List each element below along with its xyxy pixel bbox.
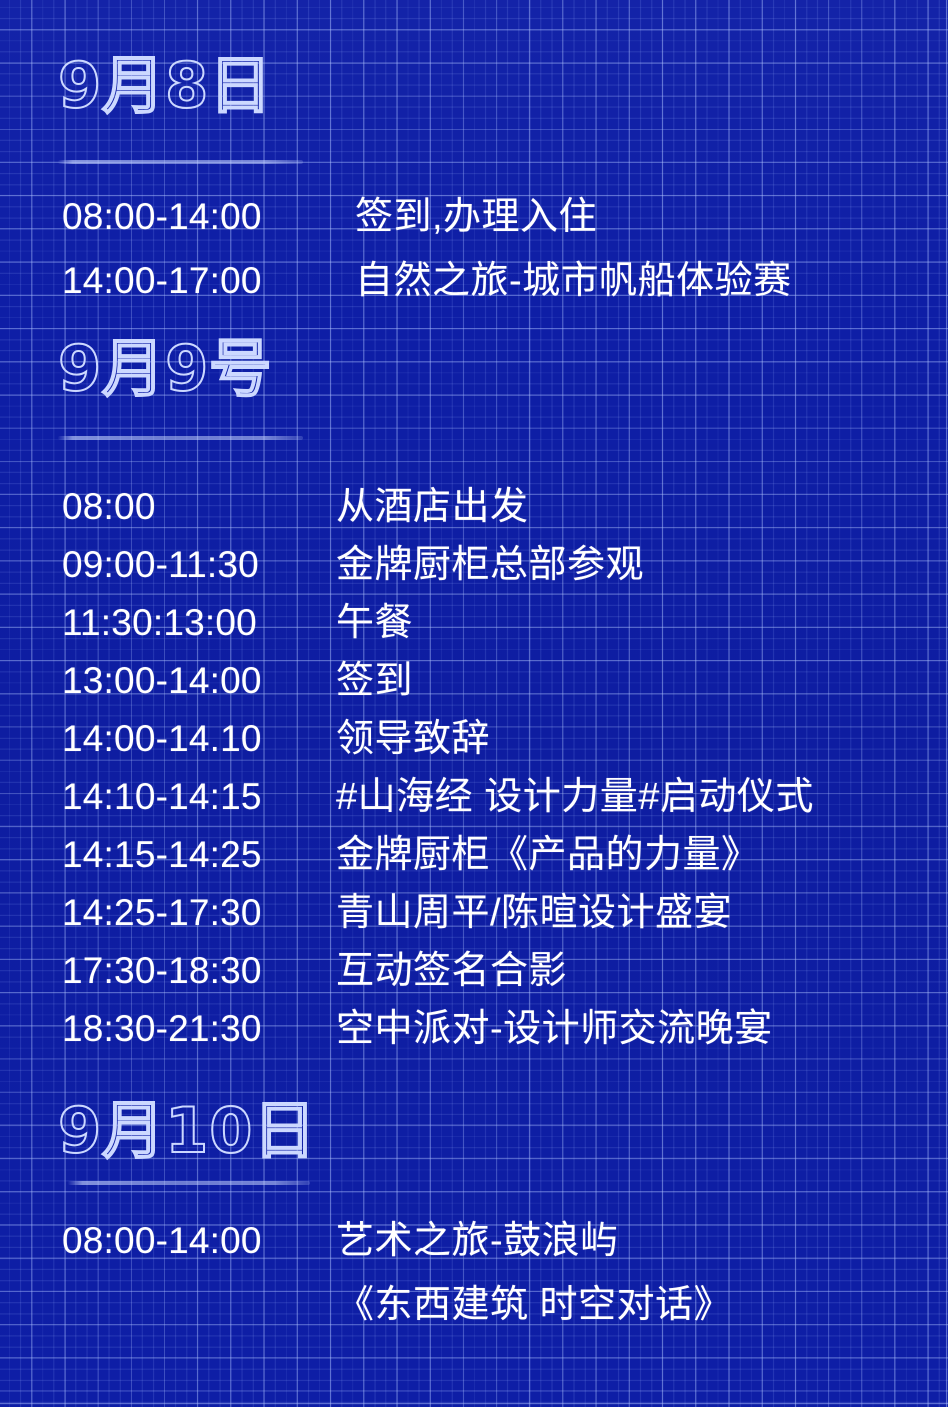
schedule-row: 14:10-14:15 #山海经 设计力量#启动仪式: [62, 778, 814, 816]
day-title-3: 9月10日: [58, 1100, 316, 1162]
row-time: 13:00-14:00: [62, 662, 336, 700]
row-event: 自然之旅-城市帆船体验赛: [355, 262, 792, 300]
row-time: 14:15-14:25: [62, 836, 336, 874]
schedule-row: 09:00-11:30 金牌厨柜总部参观: [62, 546, 644, 584]
schedule-row: 18:30-21:30 空中派对-设计师交流晚宴: [62, 1010, 773, 1048]
day-divider-2: [58, 436, 303, 440]
row-event: 青山周平/陈暄设计盛宴: [336, 894, 732, 932]
schedule-row: 08:00-14:00 签到,办理入住: [62, 198, 597, 236]
schedule-row: 08:00-14:00 艺术之旅-鼓浪屿: [62, 1222, 619, 1260]
day-title-1: 9月8日: [58, 55, 272, 117]
row-time: 18:30-21:30: [62, 1010, 336, 1048]
schedule-row: 11:30:13:00 午餐: [62, 604, 413, 642]
row-time: 14:25-17:30: [62, 894, 336, 932]
schedule-row: 17:30-18:30 互动签名合影: [62, 952, 567, 990]
row-event: #山海经 设计力量#启动仪式: [336, 778, 814, 816]
row-time: 08:00-14:00: [62, 1222, 336, 1260]
schedule-row: 13:00-14:00 签到: [62, 662, 413, 700]
row-event: 艺术之旅-鼓浪屿: [336, 1222, 619, 1260]
row-event: 空中派对-设计师交流晚宴: [336, 1010, 773, 1048]
schedule-row: 14:00-14.10 领导致辞: [62, 720, 490, 758]
row-time: 14:00-14.10: [62, 720, 336, 758]
day-divider-3: [68, 1181, 310, 1185]
day-title-2: 9月9号: [58, 338, 272, 400]
schedule-row: 08:00 从酒店出发: [62, 488, 529, 526]
row-event: 互动签名合影: [336, 952, 567, 990]
row-time: 17:30-18:30: [62, 952, 336, 990]
row-time: 09:00-11:30: [62, 546, 336, 584]
schedule-row: 14:00-17:00 自然之旅-城市帆船体验赛: [62, 262, 792, 300]
schedule-row: 14:15-14:25 金牌厨柜《产品的力量》: [62, 836, 760, 874]
row-event: 领导致辞: [336, 720, 490, 758]
row-event: 金牌厨柜《产品的力量》: [336, 836, 760, 874]
row-time: 08:00-14:00: [62, 198, 355, 236]
row-event: 签到: [336, 662, 413, 700]
row-event: 金牌厨柜总部参观: [336, 546, 644, 584]
row-time: 08:00: [62, 488, 336, 526]
row-time: 14:00-17:00: [62, 262, 355, 300]
row-event: 签到,办理入住: [355, 198, 597, 236]
schedule-row: 14:25-17:30 青山周平/陈暄设计盛宴: [62, 894, 732, 932]
row-event-line2: 《东西建筑 时空对话》: [336, 1286, 732, 1324]
row-event: 午餐: [336, 604, 413, 642]
row-time: 11:30:13:00: [62, 604, 336, 642]
row-event: 从酒店出发: [336, 488, 529, 526]
row-time: 14:10-14:15: [62, 778, 336, 816]
schedule-poster: 9月8日 08:00-14:00 签到,办理入住 14:00-17:00 自然之…: [0, 0, 948, 1407]
day-divider-1: [58, 160, 303, 164]
